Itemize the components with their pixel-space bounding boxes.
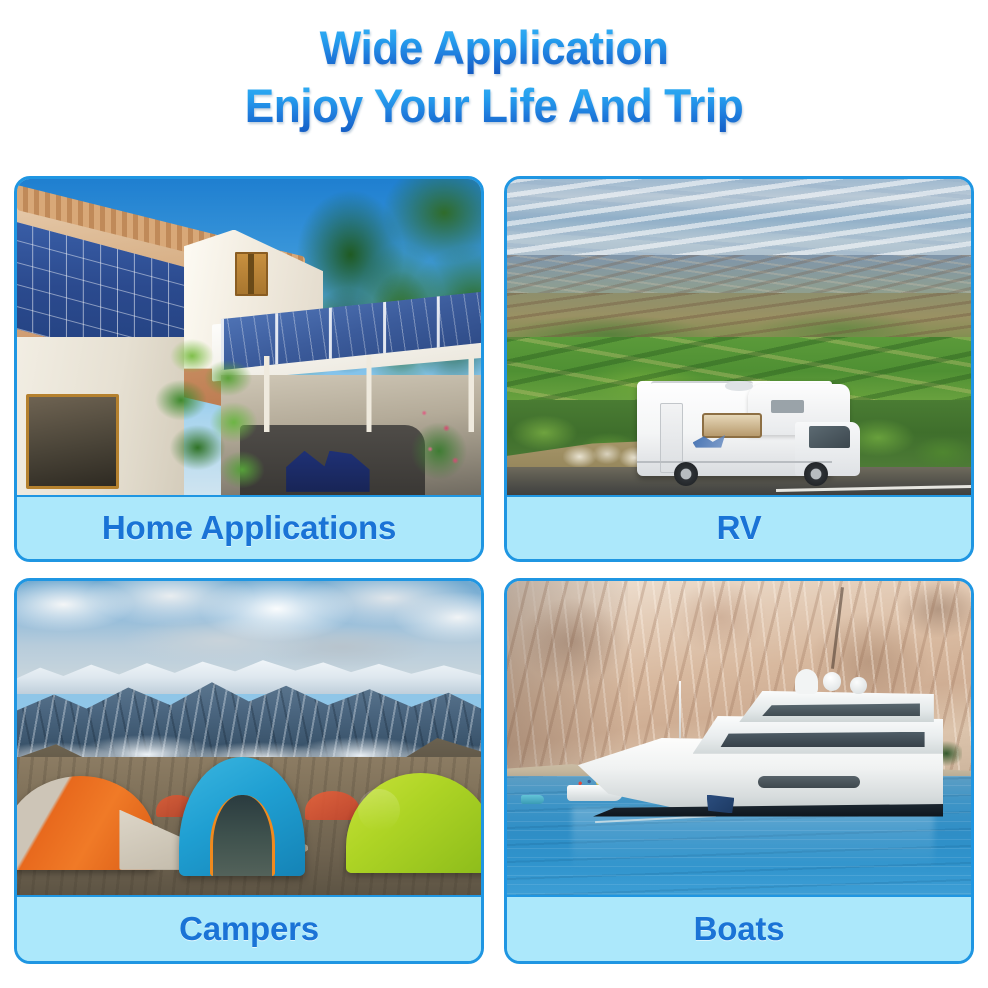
water-reflection (572, 807, 934, 870)
motorhome-windshield (809, 426, 851, 448)
card-caption-boats: Boats (507, 895, 971, 961)
card-caption-rv: RV (507, 495, 971, 559)
cliff-shadow (507, 581, 628, 776)
motorhome-side-window (702, 413, 762, 438)
yacht-upper-deck-windows (762, 703, 920, 716)
yacht-bow-mast (679, 681, 681, 738)
infographic-page: Wide Application Enjoy Your Life And Tri… (0, 0, 988, 988)
title-line-secondary: Enjoy Your Life And Trip (30, 76, 959, 136)
motorhome-bunk-window (771, 400, 803, 413)
patio-glass-door (26, 394, 119, 489)
small-dinghy (521, 795, 544, 804)
yacht-satellite-dome-left (823, 672, 842, 691)
motorhome-roof-vent (725, 381, 753, 390)
photo-rv (507, 179, 971, 495)
yacht-radar-mast (795, 669, 818, 694)
card-caption-campers: Campers (17, 895, 481, 961)
title-line-primary: Wide Application (30, 20, 959, 76)
motorhome-trim-stripe (637, 461, 832, 463)
page-title: Wide Application Enjoy Your Life And Tri… (0, 20, 988, 136)
fig-tree (142, 337, 281, 495)
shuttered-window (235, 252, 267, 296)
photo-boats (507, 581, 971, 895)
motorhome-rear-wheel (674, 462, 698, 486)
card-boats[interactable]: Boats (504, 578, 974, 964)
card-campers[interactable]: Campers (14, 578, 484, 964)
yacht-main-deck-windows (720, 732, 924, 748)
card-caption-home-applications: Home Applications (17, 495, 481, 559)
application-card-grid: Home Applications (14, 176, 974, 964)
yacht-satellite-dome-right (850, 677, 866, 694)
flowering-shrub (402, 394, 476, 489)
motorhome-front-wheel (804, 462, 828, 486)
photo-home-applications (17, 179, 481, 495)
card-home-applications[interactable]: Home Applications (14, 176, 484, 562)
photo-campers (17, 581, 481, 895)
yacht-hull-window (758, 776, 860, 789)
card-rv[interactable]: RV (504, 176, 974, 562)
